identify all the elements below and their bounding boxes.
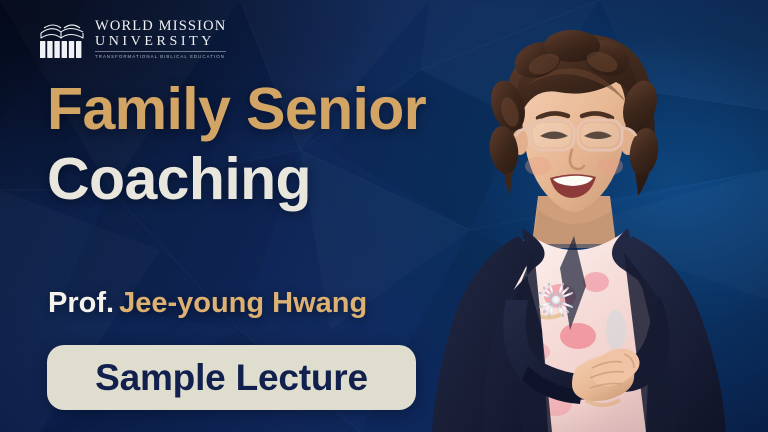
presenter-line: Prof.Jee-young Hwang xyxy=(48,286,367,320)
logo-divider xyxy=(95,51,226,52)
badge-label: Sample Lecture xyxy=(95,358,368,398)
title-line-2: Coaching xyxy=(47,144,477,214)
university-logo: WORLD MISSION UNIVERSITY TRANSFORMATIONA… xyxy=(38,15,226,61)
logo-line-1: WORLD MISSION xyxy=(95,19,226,34)
presenter-photo xyxy=(410,0,768,432)
status-badge: Sample Lecture xyxy=(47,345,416,410)
open-book-over-pillars-icon xyxy=(38,15,86,61)
logo-tagline: TRANSFORMATIONAL BIBLICAL EDUCATION xyxy=(95,54,226,60)
presenter-title: Prof. xyxy=(48,287,114,319)
logo-line-2: UNIVERSITY xyxy=(95,34,226,49)
presenter-name: Jee-young Hwang xyxy=(119,287,367,319)
page-title: Family Senior Coaching xyxy=(47,74,477,214)
lecture-thumbnail: WORLD MISSION UNIVERSITY TRANSFORMATIONA… xyxy=(0,0,768,432)
title-line-1: Family Senior xyxy=(47,74,477,144)
logo-wordmark: WORLD MISSION UNIVERSITY TRANSFORMATIONA… xyxy=(95,17,226,59)
